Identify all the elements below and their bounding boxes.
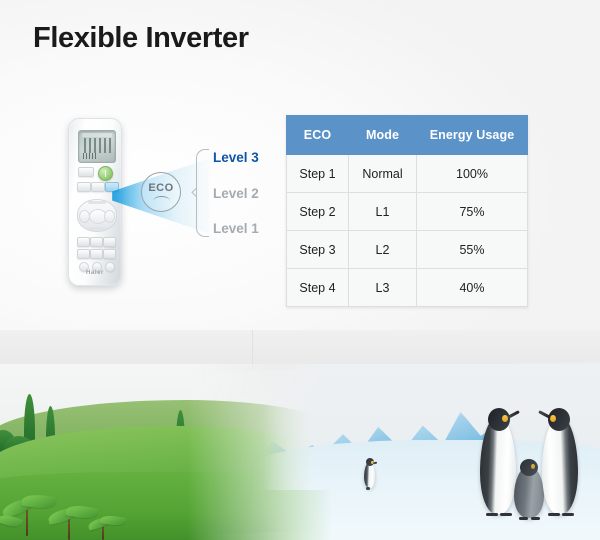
remote-button-b2[interactable]: [90, 249, 103, 259]
remote-brand-label: Haier: [69, 270, 121, 276]
cell-mode: L2: [349, 231, 417, 269]
cell-energy: 55%: [417, 231, 528, 269]
table-row: Step 2 L1 75%: [287, 193, 528, 231]
remote-dpad[interactable]: [77, 199, 117, 232]
cell-mode: Normal: [349, 155, 417, 193]
remote-button-fan[interactable]: [77, 182, 91, 192]
plant-sprout: [88, 506, 128, 540]
penguin-chick: [514, 466, 544, 518]
table-header-mode: Mode: [349, 116, 417, 155]
bottom-scene: [0, 330, 600, 540]
cell-energy: 100%: [417, 155, 528, 193]
level-brace: [196, 149, 209, 237]
cell-energy: 40%: [417, 269, 528, 307]
remote-button-b3[interactable]: [103, 249, 116, 259]
penguin-adult-right: [542, 416, 578, 514]
table-header-row: ECO Mode Energy Usage: [287, 116, 528, 155]
table-header-energy-usage: Energy Usage: [417, 116, 528, 155]
page-title: Flexible Inverter: [33, 22, 249, 55]
table-row: Step 1 Normal 100%: [287, 155, 528, 193]
table-row: Step 3 L2 55%: [287, 231, 528, 269]
remote-control: Haier: [68, 118, 122, 286]
cell-step: Step 4: [287, 269, 349, 307]
remote-body: Haier: [68, 118, 122, 286]
eco-label: ECO: [148, 183, 173, 194]
remote-button-mode[interactable]: [78, 167, 94, 177]
table-row: Step 4 L3 40%: [287, 269, 528, 307]
cell-energy: 75%: [417, 193, 528, 231]
cell-step: Step 3: [287, 231, 349, 269]
table-header-eco: ECO: [287, 116, 349, 155]
antarctic-ice-landscape: [262, 364, 600, 540]
penguin-distant: [364, 462, 375, 488]
eco-mode-table: ECO Mode Energy Usage Step 1 Normal 100%…: [286, 115, 528, 307]
remote-button-a2[interactable]: [90, 237, 103, 247]
level-item-2: Level 2: [213, 186, 259, 201]
eco-leaf-icon: [153, 196, 170, 201]
penguin-adult-left: [480, 416, 516, 514]
cell-step: Step 1: [287, 155, 349, 193]
remote-button-swing[interactable]: [91, 182, 105, 192]
remote-button-a3[interactable]: [103, 237, 116, 247]
remote-lcd-display: [78, 130, 116, 163]
level-item-3: Level 3: [213, 150, 259, 165]
remote-power-button[interactable]: [98, 166, 113, 181]
cell-mode: L1: [349, 193, 417, 231]
eco-icon: ECO: [141, 172, 181, 212]
remote-button-b1[interactable]: [77, 249, 90, 259]
slide-canvas: Flexible Inverter: [0, 0, 600, 540]
level-item-1: Level 1: [213, 221, 259, 236]
cell-step: Step 2: [287, 193, 349, 231]
remote-button-a1[interactable]: [77, 237, 90, 247]
cell-mode: L3: [349, 269, 417, 307]
